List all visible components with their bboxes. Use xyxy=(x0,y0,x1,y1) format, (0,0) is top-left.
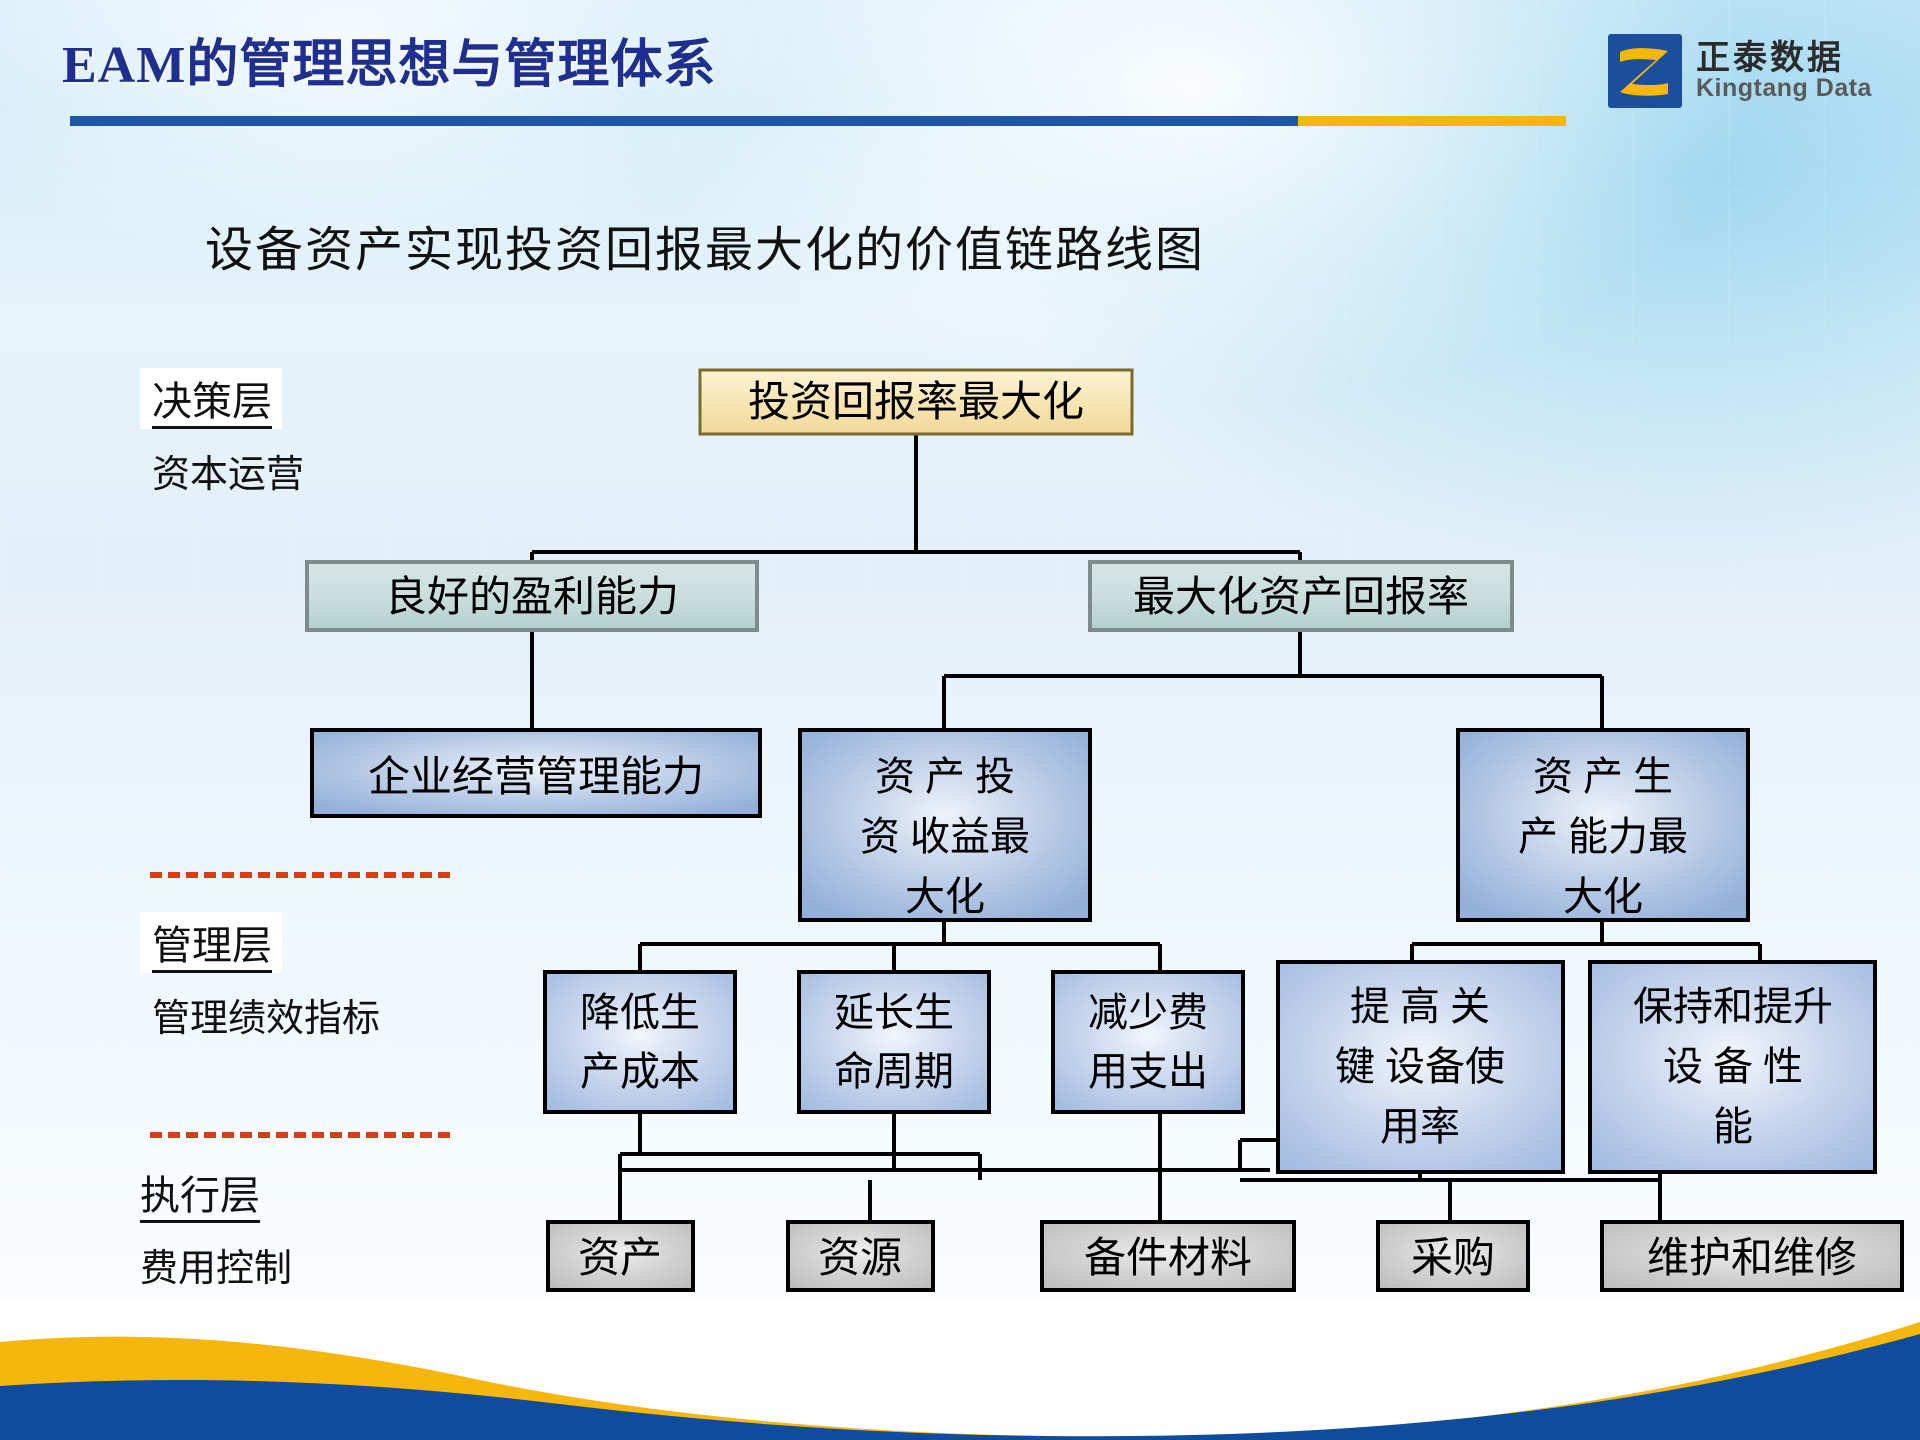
node-roa-label: 最大化资产回报率 xyxy=(1133,574,1469,621)
node-key-equipment-usage-line2: 键 设备使 xyxy=(1335,1044,1505,1089)
node-resource[interactable]: 资源 xyxy=(788,1222,933,1290)
node-extend-life-cycle-line1: 延长生 xyxy=(834,990,954,1035)
node-reduce-expense-line2: 用支出 xyxy=(1088,1049,1208,1094)
node-reduce-expense-line1: 减少费 xyxy=(1088,990,1208,1035)
node-asset-investment-return-line1: 资 产 投 xyxy=(875,754,1015,799)
node-asset-production-capacity-line1: 资 产 生 xyxy=(1533,754,1673,799)
node-extend-life-cycle[interactable]: 延长生 命周期 xyxy=(799,972,989,1112)
node-maintain-improve-performance-line1: 保持和提升 xyxy=(1633,984,1833,1029)
node-spare-parts-label: 备件材料 xyxy=(1084,1236,1252,1282)
node-maintenance-repair-label: 维护和维修 xyxy=(1647,1236,1857,1282)
node-reduce-production-cost-line2: 产成本 xyxy=(580,1049,700,1094)
node-asset-investment-return-line3: 大化 xyxy=(905,874,985,919)
node-purchase-label: 采购 xyxy=(1411,1236,1495,1282)
node-key-equipment-usage-line1: 提 高 关 xyxy=(1350,984,1490,1029)
node-profit[interactable]: 良好的盈利能力 xyxy=(307,562,757,630)
node-purchase[interactable]: 采购 xyxy=(1378,1222,1528,1290)
node-key-equipment-usage-line3: 用率 xyxy=(1380,1104,1460,1149)
value-chain-diagram: 投资回报率最大化 良好的盈利能力 最大化资产回报率 企业经营管理能力 资 产 投… xyxy=(0,0,1920,1440)
node-asset[interactable]: 资产 xyxy=(548,1222,693,1290)
node-maintain-improve-performance-line2: 设 备 性 xyxy=(1663,1044,1803,1089)
node-spare-parts[interactable]: 备件材料 xyxy=(1042,1222,1294,1290)
node-maintain-improve-performance-line3: 能 xyxy=(1713,1104,1753,1149)
node-asset-production-capacity[interactable]: 资 产 生 产 能力最 大化 xyxy=(1458,730,1748,920)
node-key-equipment-usage[interactable]: 提 高 关 键 设备使 用率 xyxy=(1278,962,1563,1172)
node-asset-production-capacity-line2: 产 能力最 xyxy=(1518,814,1688,859)
node-resource-label: 资源 xyxy=(818,1236,902,1282)
node-management-capability[interactable]: 企业经营管理能力 xyxy=(312,730,760,816)
node-management-capability-label: 企业经营管理能力 xyxy=(368,754,704,801)
node-maintain-improve-performance[interactable]: 保持和提升 设 备 性 能 xyxy=(1590,962,1875,1172)
node-reduce-production-cost[interactable]: 降低生 产成本 xyxy=(545,972,735,1112)
node-asset-investment-return[interactable]: 资 产 投 资 收益最 大化 xyxy=(800,730,1090,920)
footer-wave xyxy=(0,1300,1920,1440)
node-maintenance-repair[interactable]: 维护和维修 xyxy=(1602,1222,1902,1290)
node-asset-investment-return-line2: 资 收益最 xyxy=(860,814,1030,859)
node-reduce-expense[interactable]: 减少费 用支出 xyxy=(1053,972,1243,1112)
node-profit-label: 良好的盈利能力 xyxy=(385,574,679,621)
node-goal-label: 投资回报率最大化 xyxy=(748,379,1084,426)
node-asset-production-capacity-line3: 大化 xyxy=(1563,874,1643,919)
node-asset-label: 资产 xyxy=(578,1236,662,1282)
node-roa[interactable]: 最大化资产回报率 xyxy=(1090,562,1512,630)
node-extend-life-cycle-line2: 命周期 xyxy=(834,1049,954,1094)
node-goal[interactable]: 投资回报率最大化 xyxy=(700,370,1132,434)
node-reduce-production-cost-line1: 降低生 xyxy=(580,990,700,1035)
